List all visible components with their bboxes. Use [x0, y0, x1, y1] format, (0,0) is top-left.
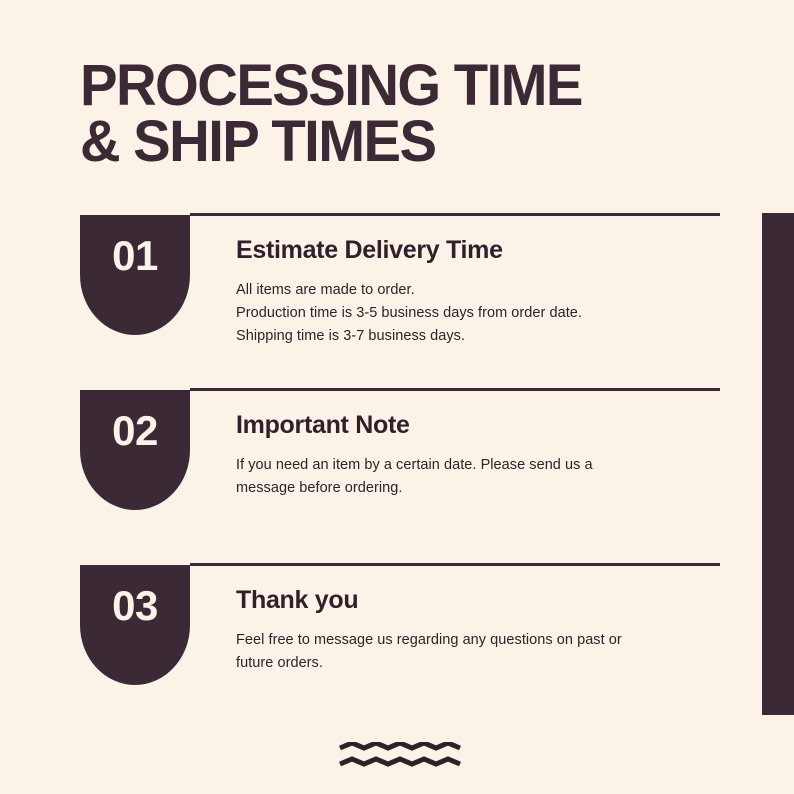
section-body-line: All items are made to order.: [236, 279, 726, 302]
section-number-label: 01: [112, 235, 158, 277]
section-body-line: Production time is 3-5 business days fro…: [236, 302, 726, 325]
section-body-line: future orders.: [236, 652, 726, 675]
zigzag-wave-icon: [338, 742, 462, 768]
section-body-line: Feel free to message us regarding any qu…: [236, 629, 726, 652]
section-number-badge: 01: [80, 215, 190, 335]
section-body-line: Shipping time is 3-7 business days.: [236, 325, 726, 348]
right-edge-accent-bar: [762, 213, 794, 715]
section-divider-rule: [190, 563, 720, 566]
section-content: Estimate Delivery Time All items are mad…: [236, 237, 726, 349]
section-number-label: 02: [112, 410, 158, 452]
page-title-line-1: PROCESSING TIME: [80, 58, 701, 114]
section-content: Thank you Feel free to message us regard…: [236, 587, 726, 675]
section-heading: Important Note: [236, 412, 726, 440]
section-heading: Thank you: [236, 587, 726, 615]
section-divider-rule: [190, 213, 720, 216]
section-number-badge: 03: [80, 565, 190, 685]
section-body-line: message before ordering.: [236, 477, 726, 500]
section-content: Important Note If you need an item by a …: [236, 412, 726, 500]
section-number-badge: 02: [80, 390, 190, 510]
page-title-line-2: & SHIP TIMES: [80, 114, 701, 170]
page-title: PROCESSING TIME & SHIP TIMES: [80, 58, 720, 171]
section-heading: Estimate Delivery Time: [236, 237, 726, 265]
section-body-line: If you need an item by a certain date. P…: [236, 454, 726, 477]
section-number-label: 03: [112, 585, 158, 627]
poster-canvas: PROCESSING TIME & SHIP TIMES 01 Estimate…: [0, 0, 794, 794]
section-divider-rule: [190, 388, 720, 391]
